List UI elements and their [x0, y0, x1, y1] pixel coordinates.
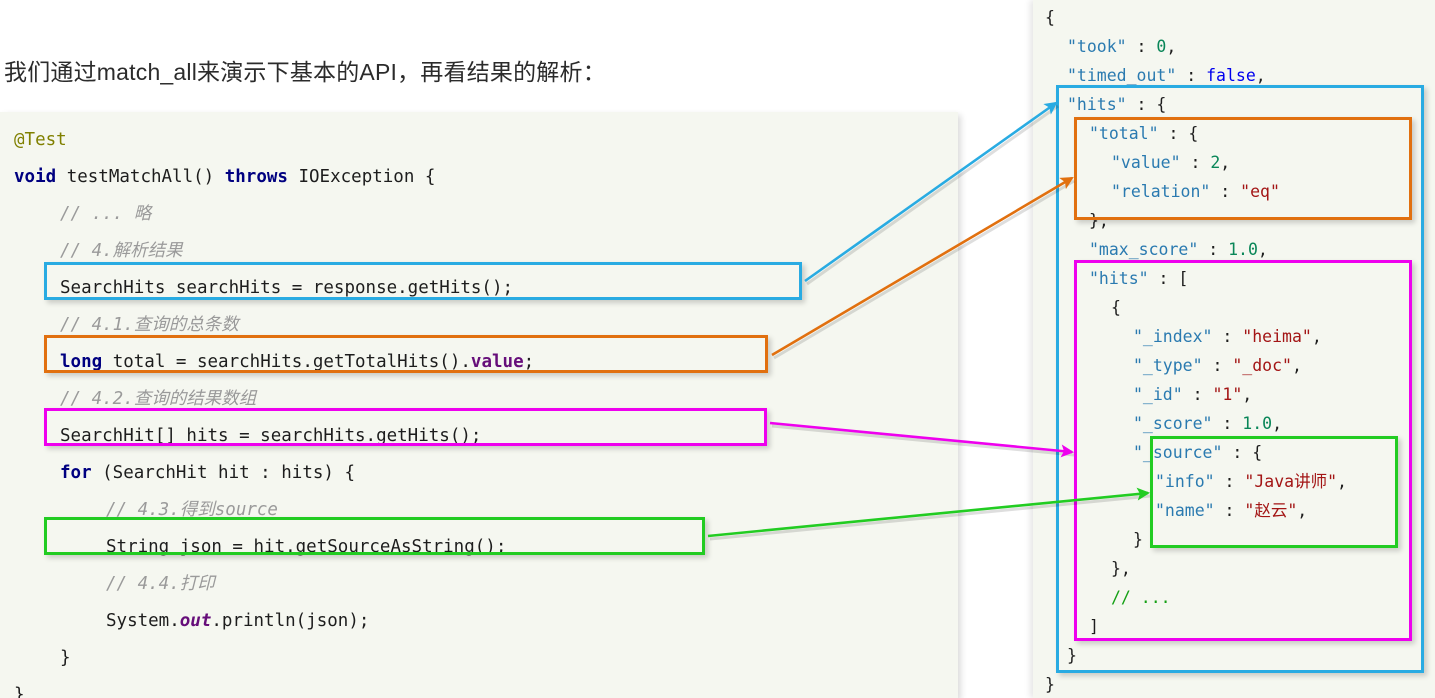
- json-source-obj: "_source" : {: [1033, 438, 1435, 467]
- json-token: :: [1127, 37, 1157, 56]
- line-total: long total = searchHits.getTotalHits().v…: [0, 344, 958, 381]
- json-token: 1.0: [1228, 240, 1258, 259]
- json-token: "max_score": [1089, 240, 1198, 259]
- json-value: "value" : 2,: [1033, 148, 1435, 177]
- json-source-close: }: [1033, 525, 1435, 554]
- json-token: ,: [1220, 153, 1230, 172]
- json-token: ,: [1272, 414, 1282, 433]
- line-hits-array: SearchHit[] hits = searchHits.getHits();: [0, 418, 958, 455]
- json-id: "_id" : "1",: [1033, 380, 1435, 409]
- line-close-for: }: [0, 640, 958, 677]
- json-token: "info": [1155, 472, 1215, 491]
- code-token: IOException {: [288, 167, 436, 187]
- json-token: {: [1045, 8, 1055, 27]
- json-ellipsis: // ...: [1033, 583, 1435, 612]
- json-hits-array: "hits" : [: [1033, 264, 1435, 293]
- json-total-close: },: [1033, 206, 1435, 235]
- json-token: "relation": [1111, 182, 1210, 201]
- code-token: String json = hit.getSourceAsString();: [106, 537, 506, 557]
- json-token: :: [1176, 66, 1206, 85]
- code-token: void: [14, 167, 56, 187]
- json-token: :: [1215, 501, 1245, 520]
- json-token: ,: [1312, 327, 1322, 346]
- json-token: "hits": [1067, 95, 1127, 114]
- json-token: "hits": [1089, 269, 1149, 288]
- json-index: "_index" : "heima",: [1033, 322, 1435, 351]
- json-token: : {: [1159, 124, 1199, 143]
- code-token: ;: [524, 352, 535, 372]
- json-token: "eq": [1240, 182, 1280, 201]
- code-token: }: [14, 685, 25, 698]
- json-token: ,: [1242, 385, 1252, 404]
- json-type: "_type" : "_doc",: [1033, 351, 1435, 380]
- json-total-obj: "total" : {: [1033, 119, 1435, 148]
- line-comment-43: // 4.3.得到source: [0, 492, 958, 529]
- json-token: "_index": [1133, 327, 1212, 346]
- json-token: "_doc": [1232, 356, 1292, 375]
- code-token: // ... 略: [60, 204, 151, 224]
- line-comment-omitted: // ... 略: [0, 196, 958, 233]
- json-token: "_source": [1133, 443, 1222, 462]
- code-token: System.: [106, 611, 180, 631]
- json-token: : {: [1127, 95, 1167, 114]
- code-token: throws: [225, 167, 288, 187]
- json-token: ]: [1089, 617, 1099, 636]
- line-annotation-test: @Test: [0, 122, 958, 159]
- json-token: }: [1045, 675, 1055, 694]
- line-close-method: }: [0, 677, 958, 698]
- json-token: :: [1181, 153, 1211, 172]
- line-for-loop: for (SearchHit hit : hits) {: [0, 455, 958, 492]
- json-token: :: [1212, 414, 1242, 433]
- json-token: ,: [1258, 240, 1268, 259]
- line-comment-42: // 4.2.查询的结果数组: [0, 381, 958, 418]
- json-took: "took" : 0,: [1033, 32, 1435, 61]
- json-token: :: [1183, 385, 1213, 404]
- json-token: ,: [1337, 472, 1347, 491]
- line-println: System.out.println(json);: [0, 603, 958, 640]
- json-token: "_score": [1133, 414, 1212, 433]
- code-token: testMatchAll(): [56, 167, 225, 187]
- json-token: // ...: [1111, 588, 1171, 607]
- json-token: false: [1206, 66, 1256, 85]
- code-token: // 4.4.打印: [106, 574, 215, 594]
- json-open-brace: {: [1033, 3, 1435, 32]
- json-token: "Java讲师": [1244, 472, 1337, 491]
- line-comment-41: // 4.1.查询的总条数: [0, 307, 958, 344]
- json-item-close: },: [1033, 554, 1435, 583]
- json-token: :: [1212, 327, 1242, 346]
- json-lines: {"took" : 0,"timed_out" : false,"hits" :…: [1033, 3, 1435, 698]
- code-token: // 4.1.查询的总条数: [60, 315, 239, 335]
- json-max-score: "max_score" : 1.0,: [1033, 235, 1435, 264]
- json-score: "_score" : 1.0,: [1033, 409, 1435, 438]
- json-token: ,: [1297, 501, 1307, 520]
- line-comment-44: // 4.4.打印: [0, 566, 958, 603]
- json-token: "heima": [1242, 327, 1312, 346]
- code-token: SearchHit[] hits = searchHits.getHits();: [60, 426, 481, 446]
- json-token: "timed_out": [1067, 66, 1176, 85]
- code-token: // 4.解析结果: [60, 241, 183, 261]
- code-token: @Test: [14, 130, 67, 150]
- json-token: },: [1089, 211, 1109, 230]
- code-token: SearchHits searchHits = response.getHits…: [60, 278, 513, 298]
- json-token: {: [1111, 298, 1121, 317]
- json-info: "info" : "Java讲师",: [1033, 467, 1435, 496]
- json-token: 1.0: [1242, 414, 1272, 433]
- json-token: ,: [1256, 66, 1266, 85]
- json-token: "_type": [1133, 356, 1203, 375]
- json-token: :: [1203, 356, 1233, 375]
- code-token: }: [60, 648, 71, 668]
- json-token: "1": [1212, 385, 1242, 404]
- json-name: "name" : "赵云",: [1033, 496, 1435, 525]
- json-token: :: [1198, 240, 1228, 259]
- code-token: (SearchHit hit : hits) {: [92, 463, 355, 483]
- code-token: out: [180, 611, 212, 631]
- json-hits-close: }: [1033, 641, 1435, 670]
- json-token: "total": [1089, 124, 1159, 143]
- json-close-brace: }: [1033, 670, 1435, 698]
- code-token: long: [60, 352, 102, 372]
- json-item-open: {: [1033, 293, 1435, 322]
- code-token: value: [471, 352, 524, 372]
- code-lines: @Testvoid testMatchAll() throws IOExcept…: [0, 122, 958, 698]
- code-token: // 4.3.得到source: [106, 500, 278, 520]
- json-token: : [: [1149, 269, 1189, 288]
- line-comment-4: // 4.解析结果: [0, 233, 958, 270]
- code-token: // 4.2.查询的结果数组: [60, 389, 256, 409]
- code-token: .println(json);: [211, 611, 369, 631]
- line-search-hits: SearchHits searchHits = response.getHits…: [0, 270, 958, 307]
- json-token: "name": [1155, 501, 1215, 520]
- page-title: 我们通过match_all来演示下基本的API，再看结果的解析：: [4, 56, 606, 88]
- json-token: :: [1210, 182, 1240, 201]
- json-token: },: [1111, 559, 1131, 578]
- json-token: }: [1067, 646, 1077, 665]
- json-token: }: [1133, 530, 1143, 549]
- line-method-signature: void testMatchAll() throws IOException {: [0, 159, 958, 196]
- json-token: ,: [1166, 37, 1176, 56]
- json-token: 0: [1156, 37, 1166, 56]
- json-token: :: [1215, 472, 1245, 491]
- line-json-string: String json = hit.getSourceAsString();: [0, 529, 958, 566]
- json-token: 2: [1210, 153, 1220, 172]
- json-token: ,: [1292, 356, 1302, 375]
- json-token: "_id": [1133, 385, 1183, 404]
- json-response-panel: {"took" : 0,"timed_out" : false,"hits" :…: [1033, 0, 1435, 698]
- code-token: for: [60, 463, 92, 483]
- json-token: "took": [1067, 37, 1127, 56]
- json-array-close: ]: [1033, 612, 1435, 641]
- json-relation: "relation" : "eq": [1033, 177, 1435, 206]
- json-token: "value": [1111, 153, 1181, 172]
- code-panel: @Testvoid testMatchAll() throws IOExcept…: [0, 112, 958, 698]
- code-token: total = searchHits.getTotalHits().: [102, 352, 471, 372]
- json-timed-out: "timed_out" : false,: [1033, 61, 1435, 90]
- json-token: : {: [1222, 443, 1262, 462]
- json-hits-obj: "hits" : {: [1033, 90, 1435, 119]
- json-token: "赵云": [1244, 501, 1297, 520]
